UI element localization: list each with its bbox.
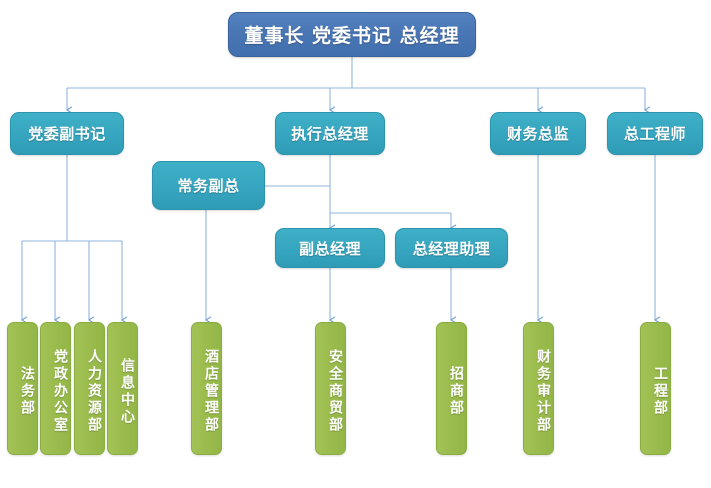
node-department-legal[interactable]: 法务部 xyxy=(7,322,38,455)
node-department-investment[interactable]: 招商部 xyxy=(436,322,467,455)
node-standing-deputy[interactable]: 常务副总 xyxy=(152,161,265,210)
node-department-human-resources[interactable]: 人力资源部 xyxy=(74,322,105,455)
node-department-safety-trade[interactable]: 安全商贸部 xyxy=(315,322,346,455)
node-executive-general-manager-label: 执行总经理 xyxy=(291,123,369,144)
node-chief-engineer-label: 总工程师 xyxy=(624,123,686,144)
node-department-finance-audit-label: 财务审计部 xyxy=(533,349,553,434)
node-deputy-party-secretary-label: 党委副书记 xyxy=(28,123,106,144)
node-department-finance-audit[interactable]: 财务审计部 xyxy=(523,322,554,455)
node-department-information-center-label: 信息中心 xyxy=(117,358,137,426)
node-deputy-general-manager[interactable]: 副总经理 xyxy=(275,228,385,268)
node-chairman[interactable]: 董事长 党委书记 总经理 xyxy=(228,12,476,57)
node-department-legal-label: 法务部 xyxy=(17,366,37,417)
node-department-investment-label: 招商部 xyxy=(446,366,466,417)
node-department-engineering[interactable]: 工程部 xyxy=(640,322,671,455)
node-executive-general-manager[interactable]: 执行总经理 xyxy=(275,112,385,155)
node-department-human-resources-label: 人力资源部 xyxy=(84,349,104,434)
node-finance-director[interactable]: 财务总监 xyxy=(490,112,586,155)
node-assistant-general-manager[interactable]: 总经理助理 xyxy=(395,228,508,268)
org-chart: 董事长 党委书记 总经理 党委副书记 执行总经理 财务总监 总工程师 常务副总 … xyxy=(0,0,711,488)
node-department-hotel-management[interactable]: 酒店管理部 xyxy=(191,322,222,455)
node-department-engineering-label: 工程部 xyxy=(650,366,670,417)
node-finance-director-label: 财务总监 xyxy=(507,123,569,144)
node-deputy-party-secretary[interactable]: 党委副书记 xyxy=(10,112,124,155)
node-chief-engineer[interactable]: 总工程师 xyxy=(607,112,703,155)
node-department-information-center[interactable]: 信息中心 xyxy=(107,322,138,455)
node-assistant-general-manager-label: 总经理助理 xyxy=(413,238,491,259)
node-department-party-admin-office-label: 党政办公室 xyxy=(50,349,70,434)
node-chairman-label: 董事长 党委书记 总经理 xyxy=(244,21,459,48)
node-standing-deputy-label: 常务副总 xyxy=(177,175,239,196)
node-department-party-admin-office[interactable]: 党政办公室 xyxy=(40,322,71,455)
node-department-hotel-management-label: 酒店管理部 xyxy=(201,349,221,434)
node-deputy-general-manager-label: 副总经理 xyxy=(299,238,361,259)
node-department-safety-trade-label: 安全商贸部 xyxy=(325,349,345,434)
